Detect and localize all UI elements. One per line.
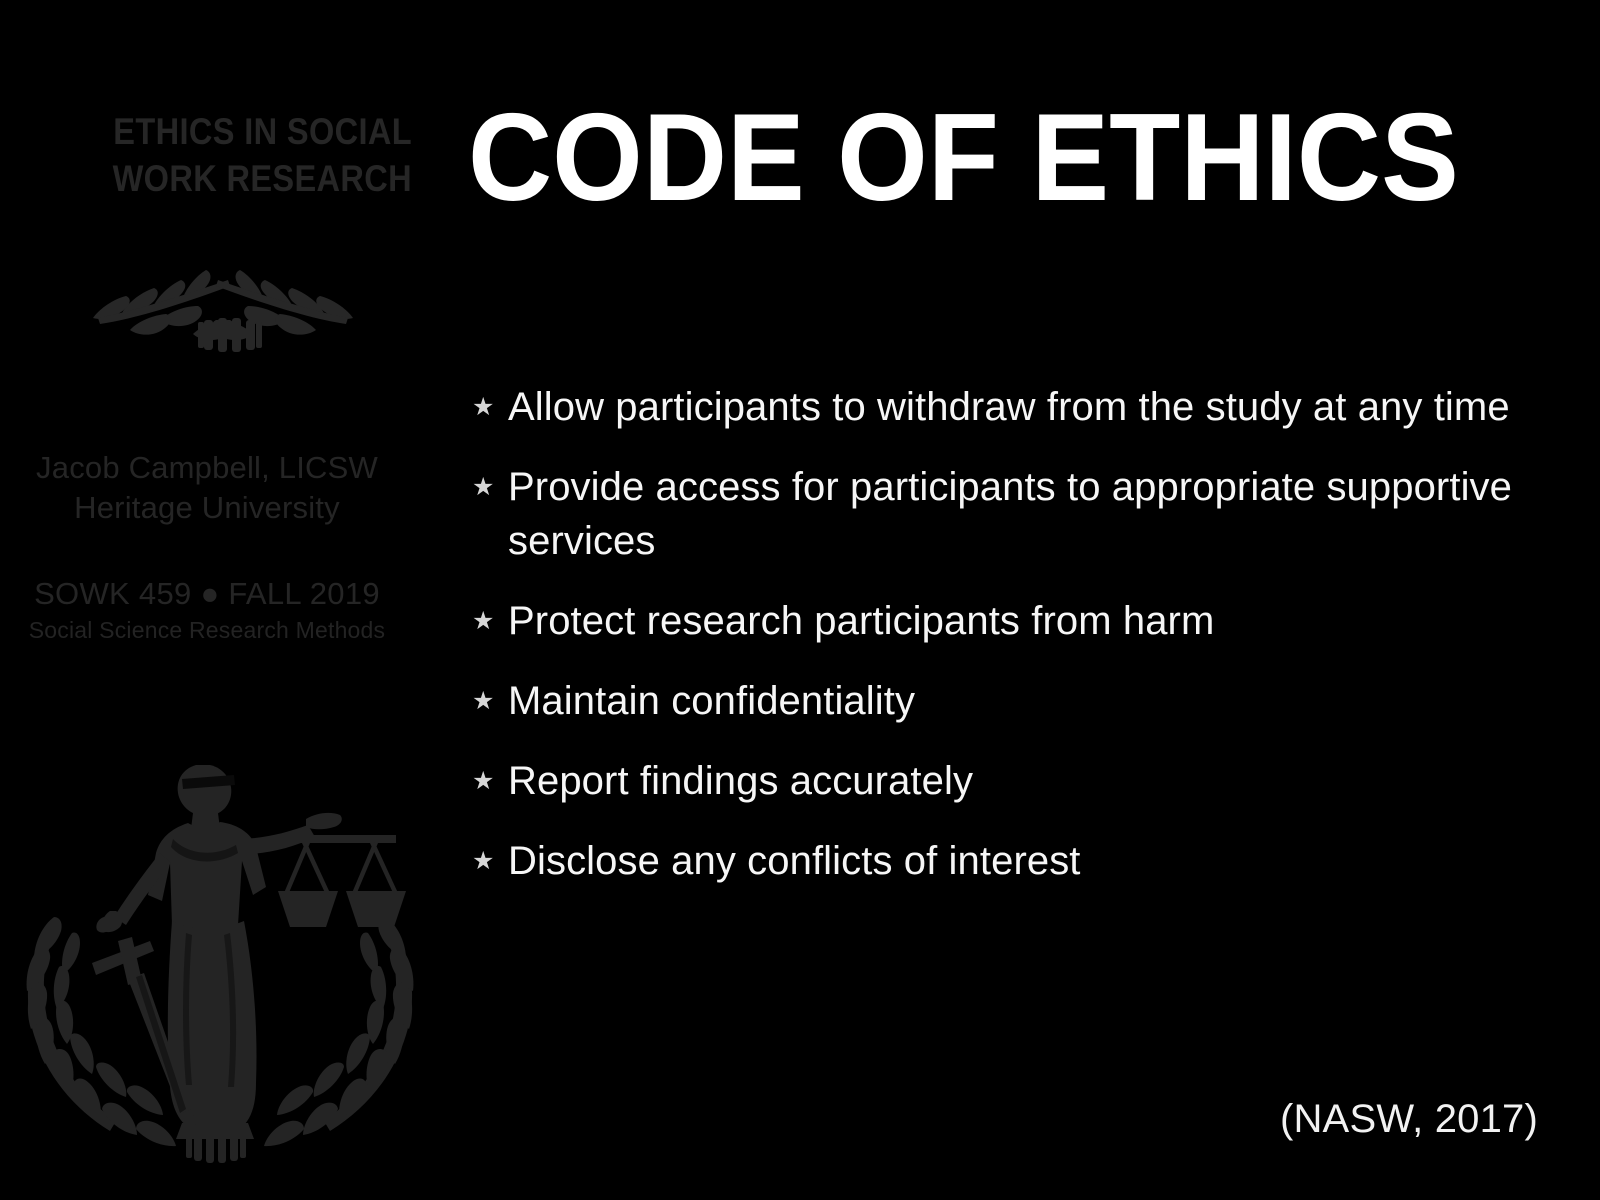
sidebar-course-title-line1: ETHICS IN SOCIAL — [113, 111, 412, 152]
star-bullet-icon: ★ — [462, 834, 508, 888]
star-bullet-icon: ★ — [462, 460, 508, 514]
slide-canvas: ETHICS IN SOCIAL WORK RESEARCH — [0, 0, 1600, 1200]
list-item-text: Allow participants to withdraw from the … — [508, 380, 1547, 434]
presenter-name: Jacob Campbell, LICSW — [36, 450, 378, 485]
bullet-list: ★ Allow participants to withdraw from th… — [462, 380, 1547, 914]
list-item-text: Disclose any conflicts of interest — [508, 834, 1547, 888]
main-content: CODE OF ETHICS ★ Allow participants to w… — [440, 0, 1600, 1200]
list-item-text: Report findings accurately — [508, 754, 1547, 808]
presenter-institution: Heritage University — [0, 488, 414, 528]
lady-justice-icon — [10, 735, 430, 1185]
list-item: ★ Report findings accurately — [462, 754, 1547, 808]
star-bullet-icon: ★ — [462, 380, 508, 434]
star-bullet-icon: ★ — [462, 594, 508, 648]
list-item: ★ Protect research participants from har… — [462, 594, 1547, 648]
list-item: ★ Maintain confidentiality — [462, 674, 1547, 728]
course-subtitle: Social Science Research Methods — [0, 615, 414, 645]
sidebar-course-title: ETHICS IN SOCIAL WORK RESEARCH — [49, 108, 412, 202]
list-item: ★ Disclose any conflicts of interest — [462, 834, 1547, 888]
list-item-text: Protect research participants from harm — [508, 594, 1547, 648]
presenter-block: Jacob Campbell, LICSW Heritage Universit… — [0, 448, 414, 528]
sidebar-course-title-line2: WORK RESEARCH — [49, 155, 412, 202]
sidebar: ETHICS IN SOCIAL WORK RESEARCH — [0, 0, 440, 1200]
course-code: SOWK 459 ● FALL 2019 — [0, 574, 414, 614]
star-bullet-icon: ★ — [462, 754, 508, 808]
list-item-text: Provide access for participants to appro… — [508, 460, 1547, 568]
citation-reference: (NASW, 2017) — [1280, 1094, 1538, 1144]
list-item: ★ Allow participants to withdraw from th… — [462, 380, 1547, 434]
laurel-branch-icon — [78, 258, 368, 358]
star-bullet-icon: ★ — [462, 674, 508, 728]
list-item-text: Maintain confidentiality — [508, 674, 1547, 728]
list-item: ★ Provide access for participants to app… — [462, 460, 1547, 568]
page-title: CODE OF ETHICS — [468, 96, 1459, 220]
